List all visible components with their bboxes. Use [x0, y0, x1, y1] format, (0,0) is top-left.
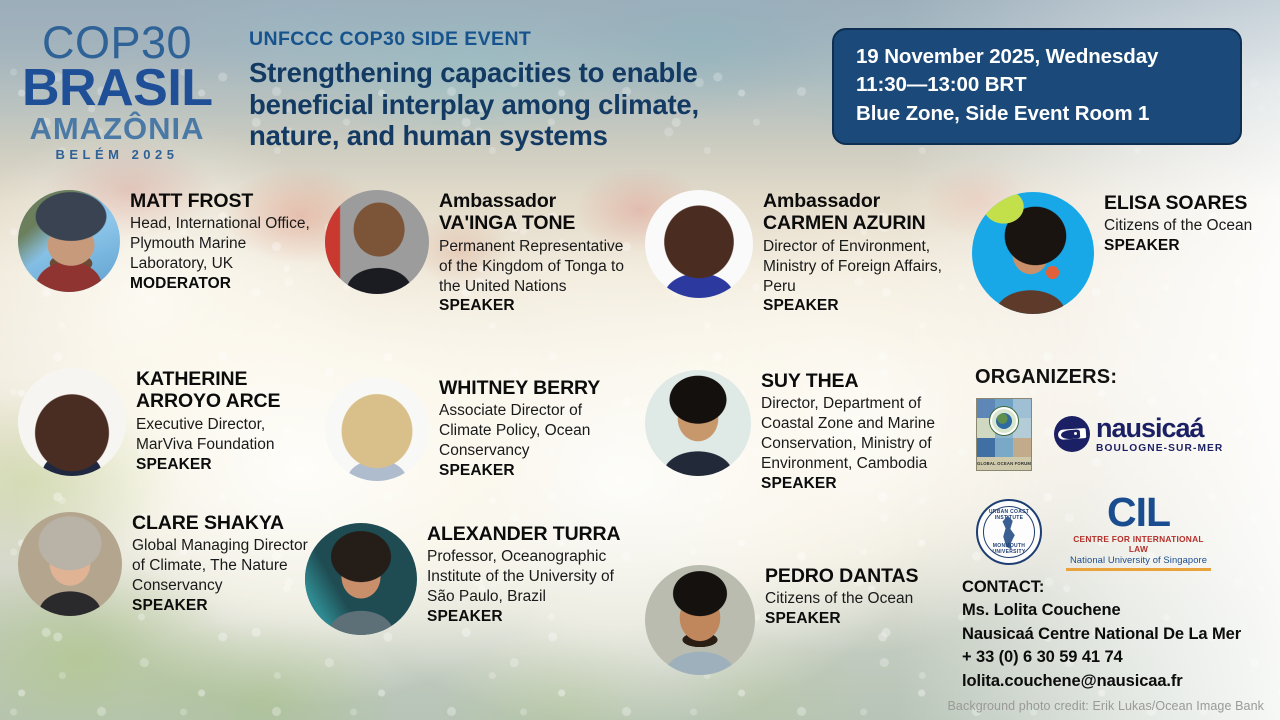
nausicaa-logo: nausicaá BOULOGNE-SUR-MER	[1054, 415, 1223, 454]
speaker-info: Ambassador VA'INGA TONE Permanent Repres…	[429, 190, 635, 315]
speaker-name: ELISA SOARES	[1104, 192, 1252, 214]
speaker-info: WHITNEY BERRY Associate Director of Clim…	[429, 377, 635, 481]
avatar	[645, 565, 755, 675]
contact-block: CONTACT: Ms. Lolita Couchene Nausicaá Ce…	[962, 576, 1241, 693]
speaker-name: ALEXANDER TURRA	[427, 523, 635, 545]
speaker-name-prefix: Ambassador	[763, 190, 965, 212]
cop30-logo-belem: BELÉM 2025	[22, 147, 212, 162]
contact-heading: CONTACT:	[962, 576, 1241, 599]
avatar	[645, 370, 751, 476]
globe-icon	[990, 407, 1018, 435]
speaker-card: SUY THEA Director, Department of Coastal…	[645, 370, 965, 493]
speaker-name: VA'INGA TONE	[439, 212, 635, 234]
urban-coast-institute-logo: URBAN COAST INSTITUTE MONMOUTH UNIVERSIT…	[976, 499, 1042, 565]
contact-phone[interactable]: + 33 (0) 6 30 59 41 74	[962, 646, 1241, 669]
speaker-tag: SPEAKER	[763, 297, 965, 315]
speaker-tag: SPEAKER	[136, 456, 318, 474]
speaker-name: CLARE SHAKYA	[132, 512, 318, 534]
uci-bottom-text: MONMOUTH UNIVERSITY	[978, 543, 1040, 555]
contact-person: Ms. Lolita Couchene	[962, 599, 1241, 622]
nausicaa-wordmark: nausicaá	[1096, 415, 1223, 442]
speaker-card: KATHERINE ARROYO ARCE Executive Director…	[18, 368, 318, 476]
speaker-role: Professor, Oceanographic Institute of th…	[427, 547, 635, 606]
event-time: 11:30—13:00 BRT	[856, 71, 1220, 99]
speaker-name: PEDRO DANTAS	[765, 565, 918, 587]
speaker-role: Citizens of the Ocean	[765, 589, 918, 609]
speaker-info: PEDRO DANTAS Citizens of the Ocean SPEAK…	[755, 565, 918, 675]
global-ocean-forum-logo: GLOBAL OCEAN FORUM	[976, 398, 1032, 471]
speaker-name: MATT FROST	[130, 190, 318, 212]
speaker-tag: SPEAKER	[439, 297, 635, 315]
cop30-logo: COP30 BRASIL AMAZÔNIA BELÉM 2025	[22, 22, 212, 162]
speaker-info: ALEXANDER TURRA Professor, Oceanographic…	[417, 523, 635, 635]
speaker-name-prefix: Ambassador	[439, 190, 635, 212]
cil-line-2: National University of Singapore	[1066, 554, 1211, 565]
avatar	[645, 190, 753, 298]
contact-email[interactable]: lolita.couchene@nausicaa.fr	[962, 670, 1241, 693]
avatar	[325, 377, 429, 481]
event-location: Blue Zone, Side Event Room 1	[856, 100, 1220, 128]
cil-line-1: CENTRE FOR INTERNATIONAL LAW	[1066, 534, 1211, 554]
speaker-card: Ambassador VA'INGA TONE Permanent Repres…	[325, 190, 635, 315]
organizer-logo-row-1: GLOBAL OCEAN FORUM nausicaá BOULOGNE-SUR…	[976, 398, 1223, 471]
speaker-role: Global Managing Director of Climate, The…	[132, 536, 318, 595]
speaker-info: SUY THEA Director, Department of Coastal…	[751, 370, 965, 493]
speaker-info: ELISA SOARES Citizens of the Ocean SPEAK…	[1094, 192, 1252, 314]
speaker-card: PEDRO DANTAS Citizens of the Ocean SPEAK…	[645, 565, 965, 675]
speaker-info: CLARE SHAKYA Global Managing Director of…	[122, 512, 318, 616]
speaker-tag: MODERATOR	[130, 275, 318, 293]
photo-credit: Background photo credit: Erik Lukas/Ocea…	[948, 699, 1265, 713]
avatar	[325, 190, 429, 294]
speaker-name: KATHERINE ARROYO ARCE	[136, 368, 318, 413]
avatar	[305, 523, 417, 635]
speaker-card: MATT FROST Head, International Office, P…	[18, 190, 318, 293]
cop30-logo-amazonia: AMAZÔNIA	[22, 113, 212, 144]
speaker-name: CARMEN AZURIN	[763, 212, 965, 234]
speaker-role: Director of Environment, Ministry of For…	[763, 237, 965, 296]
speaker-card: ALEXANDER TURRA Professor, Oceanographic…	[305, 523, 635, 635]
speaker-card: ELISA SOARES Citizens of the Ocean SPEAK…	[972, 192, 1272, 314]
speaker-role: Permanent Representative of the Kingdom …	[439, 237, 635, 296]
cop30-logo-brasil: BRASIL	[22, 65, 212, 113]
cil-underline	[1066, 568, 1211, 571]
speaker-role: Director, Department of Coastal Zone and…	[761, 394, 965, 473]
avatar	[18, 190, 120, 292]
speaker-card: CLARE SHAKYA Global Managing Director of…	[18, 512, 318, 616]
speaker-card: WHITNEY BERRY Associate Director of Clim…	[325, 377, 635, 481]
event-kicker: UNFCCC COP30 SIDE EVENT	[249, 28, 794, 51]
speaker-tag: SPEAKER	[132, 597, 318, 615]
speaker-role: Executive Director, MarViva Foundation	[136, 415, 318, 455]
speaker-card: Ambassador CARMEN AZURIN Director of Env…	[645, 190, 965, 315]
avatar	[972, 192, 1094, 314]
speaker-name: WHITNEY BERRY	[439, 377, 635, 399]
speaker-info: MATT FROST Head, International Office, P…	[120, 190, 318, 293]
cil-logo: CIL CENTRE FOR INTERNATIONAL LAW Nationa…	[1066, 494, 1211, 571]
speaker-tag: SPEAKER	[761, 475, 965, 493]
nausicaa-subtitle: BOULOGNE-SUR-MER	[1096, 444, 1223, 454]
avatar	[18, 368, 126, 476]
speaker-tag: SPEAKER	[765, 610, 918, 628]
global-ocean-forum-caption: GLOBAL OCEAN FORUM	[977, 457, 1031, 470]
speaker-info: KATHERINE ARROYO ARCE Executive Director…	[126, 368, 318, 476]
speaker-tag: SPEAKER	[427, 608, 635, 626]
organizers-heading: ORGANIZERS:	[975, 366, 1117, 389]
page-title: Strengthening capacities to enable benef…	[249, 57, 794, 152]
speaker-name: SUY THEA	[761, 370, 965, 392]
speaker-role: Associate Director of Climate Policy, Oc…	[439, 401, 635, 460]
event-date: 19 November 2025, Wednesday	[856, 43, 1220, 71]
speaker-info: Ambassador CARMEN AZURIN Director of Env…	[753, 190, 965, 315]
organizer-logo-row-2: URBAN COAST INSTITUTE MONMOUTH UNIVERSIT…	[976, 494, 1211, 571]
speaker-tag: SPEAKER	[439, 462, 635, 480]
fish-icon	[1054, 416, 1090, 452]
contact-org: Nausicaá Centre National De La Mer	[962, 623, 1241, 646]
avatar	[18, 512, 122, 616]
speaker-role: Citizens of the Ocean	[1104, 216, 1252, 236]
speaker-tag: SPEAKER	[1104, 237, 1252, 255]
header-text-block: UNFCCC COP30 SIDE EVENT Strengthening ca…	[249, 28, 794, 152]
speaker-role: Head, International Office, Plymouth Mar…	[130, 214, 318, 273]
cil-abbreviation: CIL	[1066, 494, 1211, 531]
event-details-box: 19 November 2025, Wednesday 11:30—13:00 …	[832, 28, 1242, 145]
